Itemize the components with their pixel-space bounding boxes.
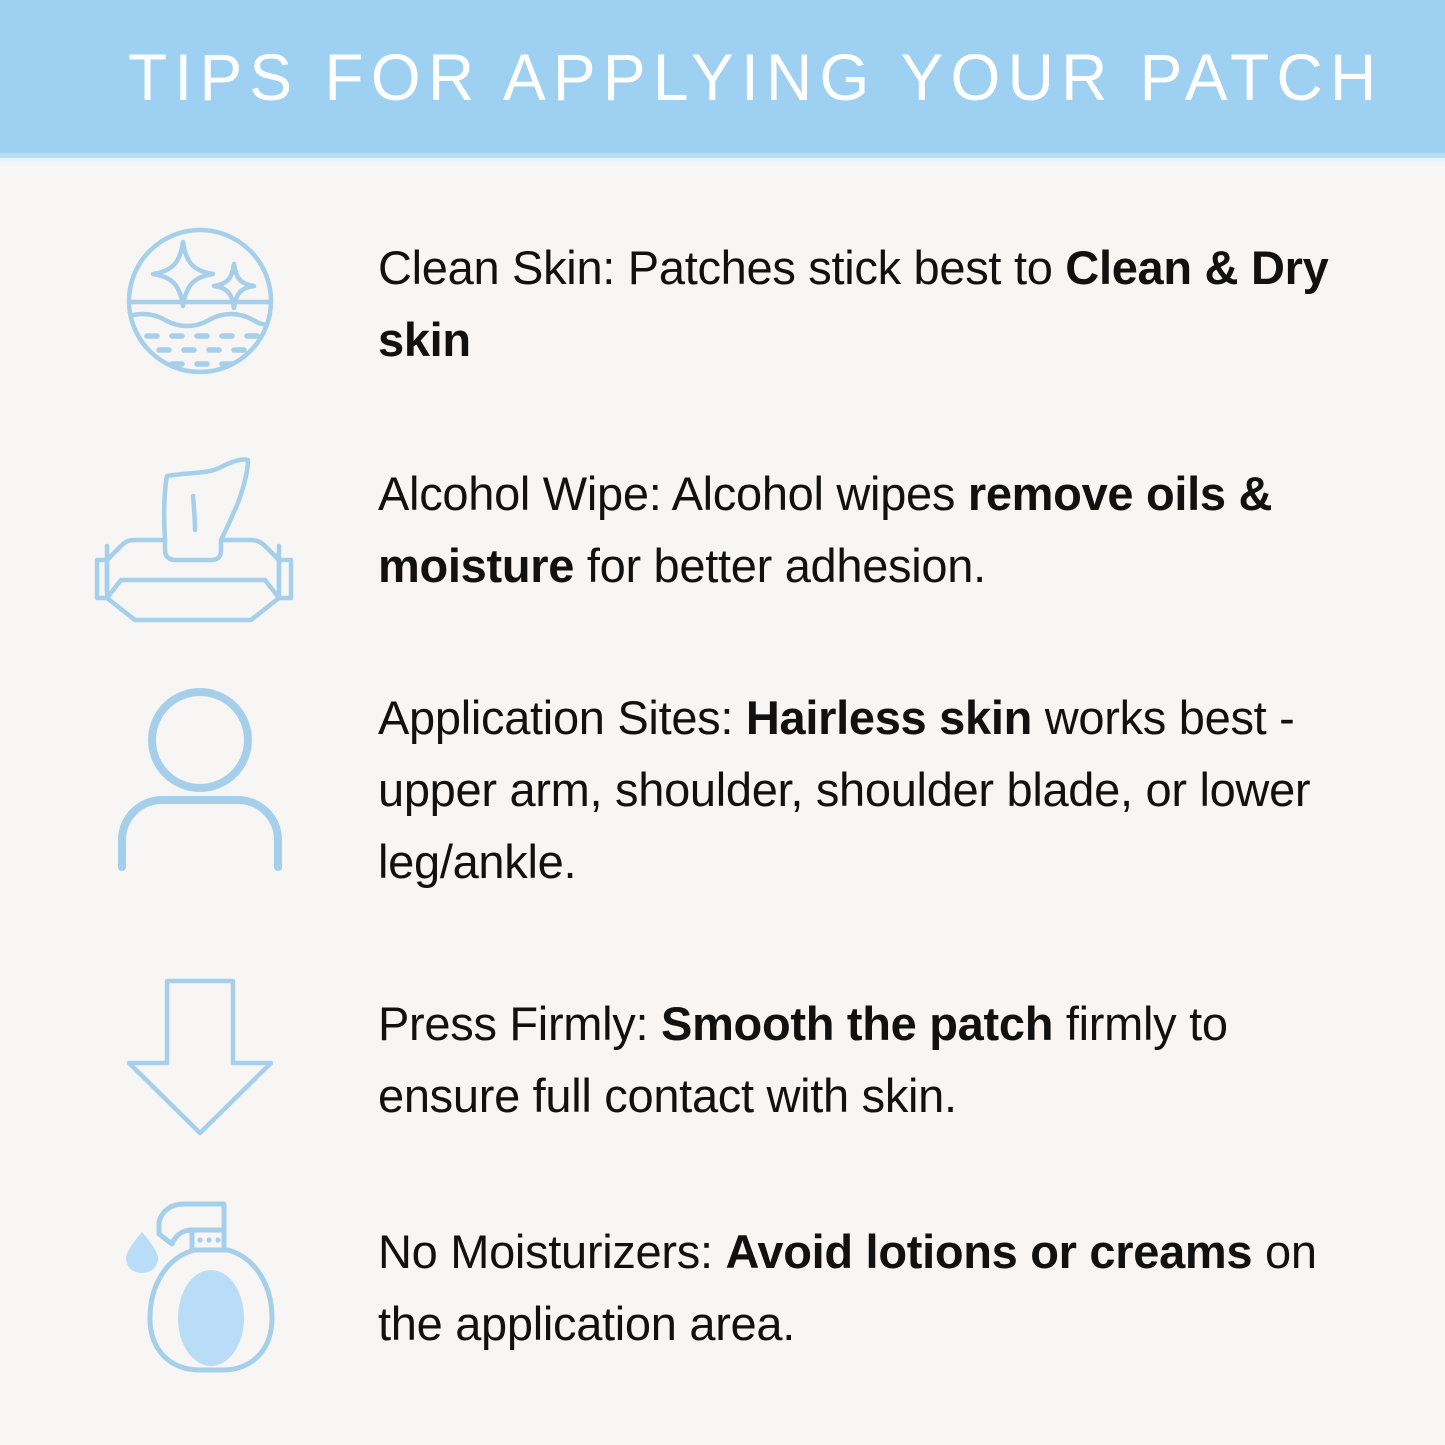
page-title: TIPS FOR APPLYING YOUR PATCH (128, 44, 1383, 110)
tip-lead: Alcohol Wipe: Alcohol wipes (378, 467, 968, 520)
header-banner: TIPS FOR APPLYING YOUR PATCH (0, 0, 1445, 153)
clean-skin-sparkle-icon (100, 226, 300, 376)
tip-lead: Clean Skin: Patches stick best to (378, 241, 1065, 294)
list-item-text: No Moisturizers: Avoid lotions or creams… (378, 1216, 1378, 1360)
tip-bold: Hairless skin (746, 691, 1032, 744)
tip-lead: No Moisturizers: (378, 1225, 725, 1278)
list-item-text: Alcohol Wipe: Alcohol wipes remove oils … (378, 458, 1378, 602)
list-item-text: Clean Skin: Patches stick best to Clean … (378, 232, 1378, 376)
tip-lead: Press Firmly: (378, 997, 661, 1050)
tip-tail: for better adhesion. (574, 539, 986, 592)
lotion-pump-bottle-icon (100, 1200, 300, 1375)
wipes-packet-icon (100, 450, 300, 600)
tip-bold: Avoid lotions or creams (725, 1225, 1252, 1278)
list-item-text: Application Sites: Hairless skin works b… (378, 682, 1378, 898)
infographic-page: TIPS FOR APPLYING YOUR PATCH (0, 0, 1445, 1445)
person-icon (100, 682, 300, 867)
tip-lead: Application Sites: (378, 691, 746, 744)
down-arrow-icon (100, 977, 300, 1137)
tips-list: Clean Skin: Patches stick best to Clean … (0, 162, 1445, 1445)
list-item-text: Press Firmly: Smooth the patch firmly to… (378, 988, 1378, 1132)
tip-bold: Smooth the patch (661, 997, 1053, 1050)
